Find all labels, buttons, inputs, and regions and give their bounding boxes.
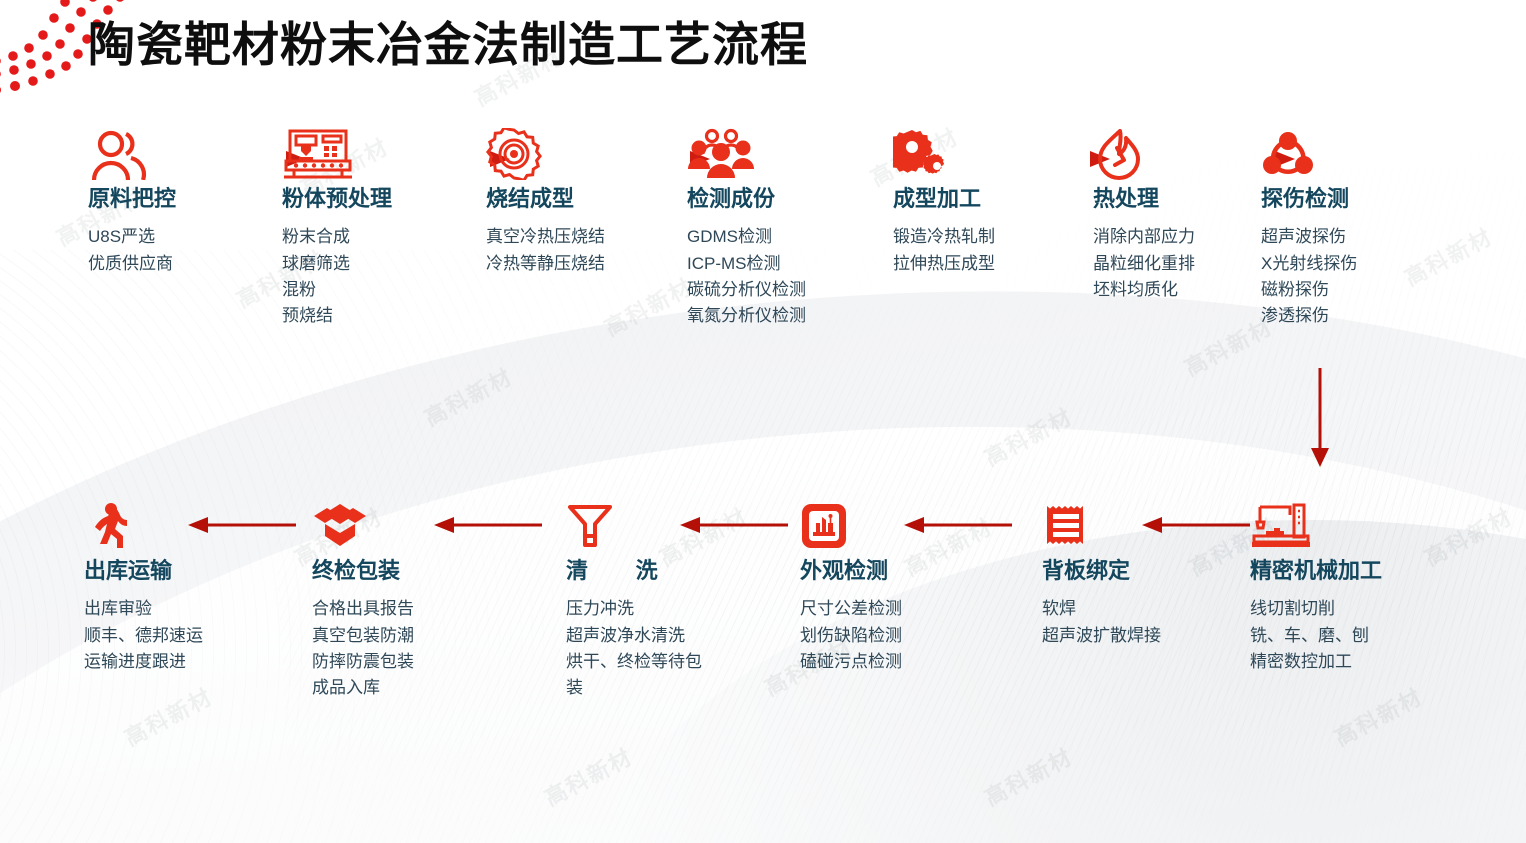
step-title: 探伤检测 [1261,188,1357,212]
arrow-left-4 [902,512,1014,538]
desc-line: 精密数控加工 [1250,649,1382,675]
desc-line: 铣、车、磨、刨 [1250,623,1382,649]
step-shaojie-chengxing[interactable]: 烧结成型 真空冷热压烧结 冷热等静压烧结 [486,128,605,277]
step-desc: 锻造冷热轧制 拉伸热压成型 [893,224,995,277]
desc-line: 超声波扩散焊接 [1042,623,1161,649]
step-desc: 线切割切削 铣、车、磨、刨 精密数控加工 [1250,596,1382,675]
gears-icon [893,128,949,180]
desc-line: 氧氮分析仪检测 [687,303,806,329]
desc-line: 超声波探伤 [1261,224,1357,250]
running-person-icon [84,500,132,552]
step-jiance-chengfen[interactable]: 检测成份 GDMS检测 ICP-MS检测 碳硫分析仪检测 氧氮分析仪检测 [687,128,806,330]
watermark: 高科新材 [118,679,218,752]
step-beiban-bangding[interactable]: 背板绑定 软焊 超声波扩散焊接 [1042,500,1161,649]
watermark: 高科新材 [1398,219,1498,292]
desc-line: 成品入库 [312,675,414,701]
desc-line: 粉末合成 [282,224,392,250]
desc-line: 划伤缺陷检测 [800,623,902,649]
step-desc: 合格出具报告 真空包装防潮 防摔防震包装 成品入库 [312,596,414,701]
step-title: 精密机械加工 [1250,560,1382,584]
step-title: 出库运输 [84,560,203,584]
open-box-icon [312,500,368,552]
step-rechuli[interactable]: 热处理 消除内部应力 晶粒细化重排 坯料均质化 [1093,128,1195,303]
desc-line: 顺丰、德邦速运 [84,623,203,649]
step-title: 粉体预处理 [282,188,392,212]
step-desc: 压力冲洗 超声波净水清洗 烘干、终检等待包装 [566,596,716,701]
desc-line: 防摔防震包装 [312,649,414,675]
desc-line: 真空冷热压烧结 [486,224,605,250]
step-desc: 超声波探伤 X光射线探伤 磁粉探伤 渗透探伤 [1261,224,1357,329]
step-fenti-yuchuli[interactable]: 粉体预处理 粉末合成 球磨筛选 混粉 预烧结 [282,128,392,330]
desc-line: 晶粒细化重排 [1093,251,1195,277]
step-yuanliao-bakong[interactable]: 原料把控 U8S严选 优质供应商 [88,128,176,277]
step-title: 终检包装 [312,560,414,584]
step-title: 烧结成型 [486,188,605,212]
step-title: 原料把控 [88,188,176,212]
step-chuku-yunshu[interactable]: 出库运输 出库审验 顺丰、德邦速运 运输进度跟进 [84,500,203,675]
desc-line: 渗透探伤 [1261,303,1357,329]
step-desc: 尺寸公差检测 划伤缺陷检测 磕碰污点检测 [800,596,902,675]
step-desc: 粉末合成 球磨筛选 混粉 预烧结 [282,224,392,329]
desc-line: 优质供应商 [88,251,176,277]
desc-line: U8S严选 [88,224,176,250]
watermark: 高科新材 [1418,499,1518,572]
page-title: 陶瓷靶材粉末冶金法制造工艺流程 [88,6,808,75]
step-title: 检测成份 [687,188,806,212]
step-waiguan-jiance[interactable]: 外观检测 尺寸公差检测 划伤缺陷检测 磕碰污点检测 [800,500,902,675]
step-zhongjian-baozhuang[interactable]: 终检包装 合格出具报告 真空包装防潮 防摔防震包装 成品入库 [312,500,414,702]
backplate-icon [1042,500,1090,552]
desc-line: 锻造冷热轧制 [893,224,995,250]
step-desc: 软焊 超声波扩散焊接 [1042,596,1161,649]
desc-line: 冷热等静压烧结 [486,251,605,277]
desc-line: 坯料均质化 [1093,277,1195,303]
desc-line: 消除内部应力 [1093,224,1195,250]
background-decoration: 高科新材 高科新材 高科新材 高科新材 高科新材 高科新材 高科新材 高科新材 … [0,0,1526,843]
desc-line: 预烧结 [282,303,392,329]
desc-line: 拉伸热压成型 [893,251,995,277]
cnc-machine-icon [1250,500,1312,552]
step-title: 外观检测 [800,560,902,584]
arrow-left-2 [432,512,544,538]
step-title: 成型加工 [893,188,995,212]
desc-line: 真空包装防潮 [312,623,414,649]
step-desc: 消除内部应力 晶粒细化重排 坯料均质化 [1093,224,1195,303]
desc-line: 合格出具报告 [312,596,414,622]
desc-line: 出库审验 [84,596,203,622]
funnel-icon [566,500,614,552]
step-chengxing-jiagong[interactable]: 成型加工 锻造冷热轧制 拉伸热压成型 [893,128,995,277]
watermark: 高科新材 [538,739,638,812]
people-group-icon [687,128,755,180]
desc-line: 超声波净水清洗 [566,623,716,649]
desc-line: 尺寸公差检测 [800,596,902,622]
desc-line: 烘干、终检等待包装 [566,649,716,702]
step-jingmi-jixie-jiagong[interactable]: 精密机械加工 线切割切削 铣、车、磨、刨 精密数控加工 [1250,500,1382,675]
step-desc: GDMS检测 ICP-MS检测 碳硫分析仪检测 氧氮分析仪检测 [687,224,806,329]
desc-line: 运输进度跟进 [84,649,203,675]
three-nodes-icon [1261,128,1315,180]
watermark: 高科新材 [1328,679,1428,752]
step-desc: U8S严选 优质供应商 [88,224,176,277]
watermark: 高科新材 [418,359,518,432]
watermark: 高科新材 [978,739,1078,812]
step-tanshang-jiance[interactable]: 探伤检测 超声波探伤 X光射线探伤 磁粉探伤 渗透探伤 [1261,128,1357,330]
step-desc: 出库审验 顺丰、德邦速运 运输进度跟进 [84,596,203,675]
watermark: 高科新材 [598,269,698,342]
desc-line: 球磨筛选 [282,251,392,277]
press-machine-icon [282,128,354,180]
desc-line: 压力冲洗 [566,596,716,622]
title-bar: 陶瓷靶材粉末冶金法制造工艺流程 [0,0,1526,92]
desc-line: 软焊 [1042,596,1161,622]
step-title: 背板绑定 [1042,560,1161,584]
watermark: 高科新材 [978,399,1078,472]
desc-line: 碳硫分析仪检测 [687,277,806,303]
desc-line: 混粉 [282,277,392,303]
step-title: 清 洗 [566,560,716,584]
step-qingxi[interactable]: 清 洗 压力冲洗 超声波净水清洗 烘干、终检等待包装 [566,500,716,702]
desc-line: 磕碰污点检测 [800,649,902,675]
desc-line: ICP-MS检测 [687,251,806,277]
step-title: 热处理 [1093,188,1195,212]
desc-line: GDMS检测 [687,224,806,250]
arrow-down-connector [1300,368,1340,468]
inspection-icon [800,500,848,552]
two-people-icon [88,128,148,180]
desc-line: 磁粉探伤 [1261,277,1357,303]
desc-line: X光射线探伤 [1261,251,1357,277]
desc-line: 线切割切削 [1250,596,1382,622]
step-desc: 真空冷热压烧结 冷热等静压烧结 [486,224,605,277]
flame-icon [1093,128,1145,180]
gear-target-icon [486,128,542,180]
